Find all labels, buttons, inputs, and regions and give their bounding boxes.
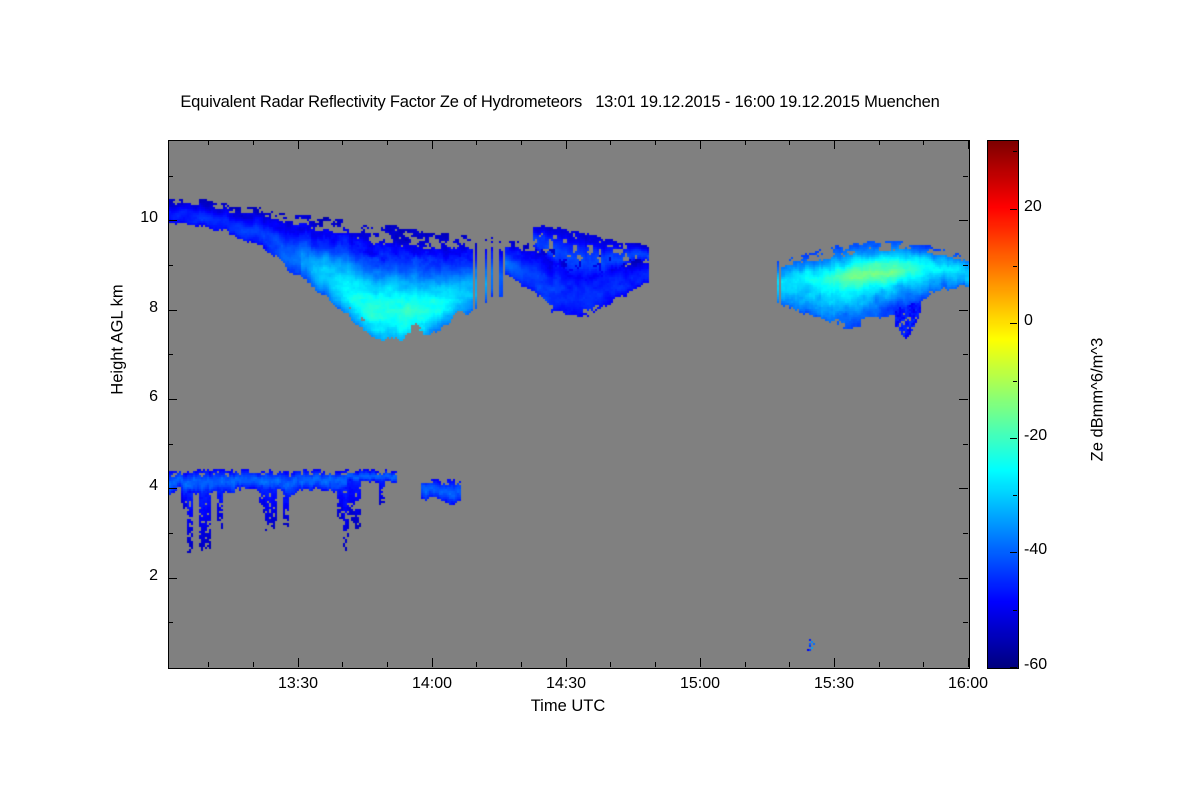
x-minor-tick-top [789, 140, 790, 145]
x-tick-label: 14:30 [521, 675, 611, 693]
colorbar-tick-label: 0 [1024, 312, 1084, 330]
colorbar-major-tick [1010, 438, 1017, 439]
y-minor-tick-right [963, 622, 968, 623]
colorbar-minor-tick [1013, 151, 1017, 152]
y-major-tick-left [168, 488, 177, 489]
colorbar-major-tick [1010, 209, 1017, 210]
x-minor-tick-bottom [610, 662, 611, 667]
x-tick-label: 14:00 [387, 675, 477, 693]
x-minor-tick-top [253, 140, 254, 145]
chart-title: Equivalent Radar Reflectivity Factor Ze … [0, 93, 1120, 112]
colorbar-minor-tick [1013, 266, 1017, 267]
colorbar-major-tick [1010, 552, 1017, 553]
x-minor-tick-top [208, 140, 209, 145]
x-minor-tick-top [923, 140, 924, 145]
y-axis-title: Height AGL km [109, 210, 128, 470]
x-major-tick-bottom [298, 658, 299, 667]
y-major-tick-right [959, 220, 968, 221]
x-tick-label: 13:30 [253, 675, 343, 693]
x-major-tick-top [968, 140, 969, 149]
plot-area [168, 140, 970, 669]
y-tick-label: 4 [90, 477, 158, 495]
y-minor-tick-right [963, 265, 968, 266]
x-major-tick-top [298, 140, 299, 149]
y-major-tick-right [959, 488, 968, 489]
y-minor-tick-right [963, 533, 968, 534]
x-major-tick-bottom [566, 658, 567, 667]
y-minor-tick-left [168, 176, 173, 177]
x-minor-tick-bottom [342, 662, 343, 667]
x-minor-tick-top [387, 140, 388, 145]
x-major-tick-bottom [700, 658, 701, 667]
colorbar-major-tick [1010, 667, 1017, 668]
x-minor-tick-bottom [745, 662, 746, 667]
x-major-tick-bottom [968, 658, 969, 667]
x-major-tick-top [700, 140, 701, 149]
colorbar-tick-label: 20 [1024, 198, 1084, 216]
x-minor-tick-bottom [387, 662, 388, 667]
radar-reflectivity-figure: Equivalent Radar Reflectivity Factor Ze … [0, 0, 1200, 800]
y-major-tick-left [168, 220, 177, 221]
x-major-tick-bottom [834, 658, 835, 667]
y-major-tick-right [959, 310, 968, 311]
x-minor-tick-top [342, 140, 343, 145]
colorbar-tick-label: -40 [1024, 541, 1084, 559]
x-minor-tick-top [745, 140, 746, 145]
x-tick-label: 16:00 [923, 675, 1013, 693]
x-minor-tick-bottom [521, 662, 522, 667]
x-major-tick-top [432, 140, 433, 149]
y-major-tick-right [959, 578, 968, 579]
colorbar-gradient-canvas [988, 141, 1018, 668]
x-minor-tick-bottom [789, 662, 790, 667]
x-minor-tick-bottom [208, 662, 209, 667]
y-minor-tick-left [168, 444, 173, 445]
x-minor-tick-top [521, 140, 522, 145]
y-major-tick-left [168, 310, 177, 311]
colorbar-major-tick [1010, 323, 1017, 324]
x-tick-label: 15:30 [789, 675, 879, 693]
colorbar-tick-label: -20 [1024, 427, 1084, 445]
y-major-tick-left [168, 399, 177, 400]
x-major-tick-bottom [432, 658, 433, 667]
x-minor-tick-bottom [879, 662, 880, 667]
y-minor-tick-right [963, 444, 968, 445]
colorbar [987, 140, 1019, 669]
y-minor-tick-right [963, 176, 968, 177]
y-minor-tick-left [168, 354, 173, 355]
x-minor-tick-top [610, 140, 611, 145]
y-minor-tick-left [168, 533, 173, 534]
reflectivity-heatmap-canvas [169, 141, 969, 668]
x-major-tick-top [834, 140, 835, 149]
y-tick-label: 2 [90, 567, 158, 585]
x-minor-tick-bottom [476, 662, 477, 667]
x-minor-tick-bottom [923, 662, 924, 667]
colorbar-minor-tick [1013, 381, 1017, 382]
colorbar-title: Ze dBmm^6/m^3 [1089, 270, 1108, 530]
x-tick-label: 15:00 [655, 675, 745, 693]
x-minor-tick-top [879, 140, 880, 145]
colorbar-minor-tick [1013, 610, 1017, 611]
x-axis-title: Time UTC [168, 697, 968, 716]
y-major-tick-right [959, 399, 968, 400]
y-minor-tick-right [963, 354, 968, 355]
x-major-tick-top [566, 140, 567, 149]
x-minor-tick-bottom [655, 662, 656, 667]
y-minor-tick-left [168, 622, 173, 623]
colorbar-tick-label: -60 [1024, 656, 1084, 674]
x-minor-tick-top [655, 140, 656, 145]
x-minor-tick-bottom [253, 662, 254, 667]
y-minor-tick-left [168, 265, 173, 266]
y-major-tick-left [168, 578, 177, 579]
colorbar-minor-tick [1013, 495, 1017, 496]
x-minor-tick-top [476, 140, 477, 145]
